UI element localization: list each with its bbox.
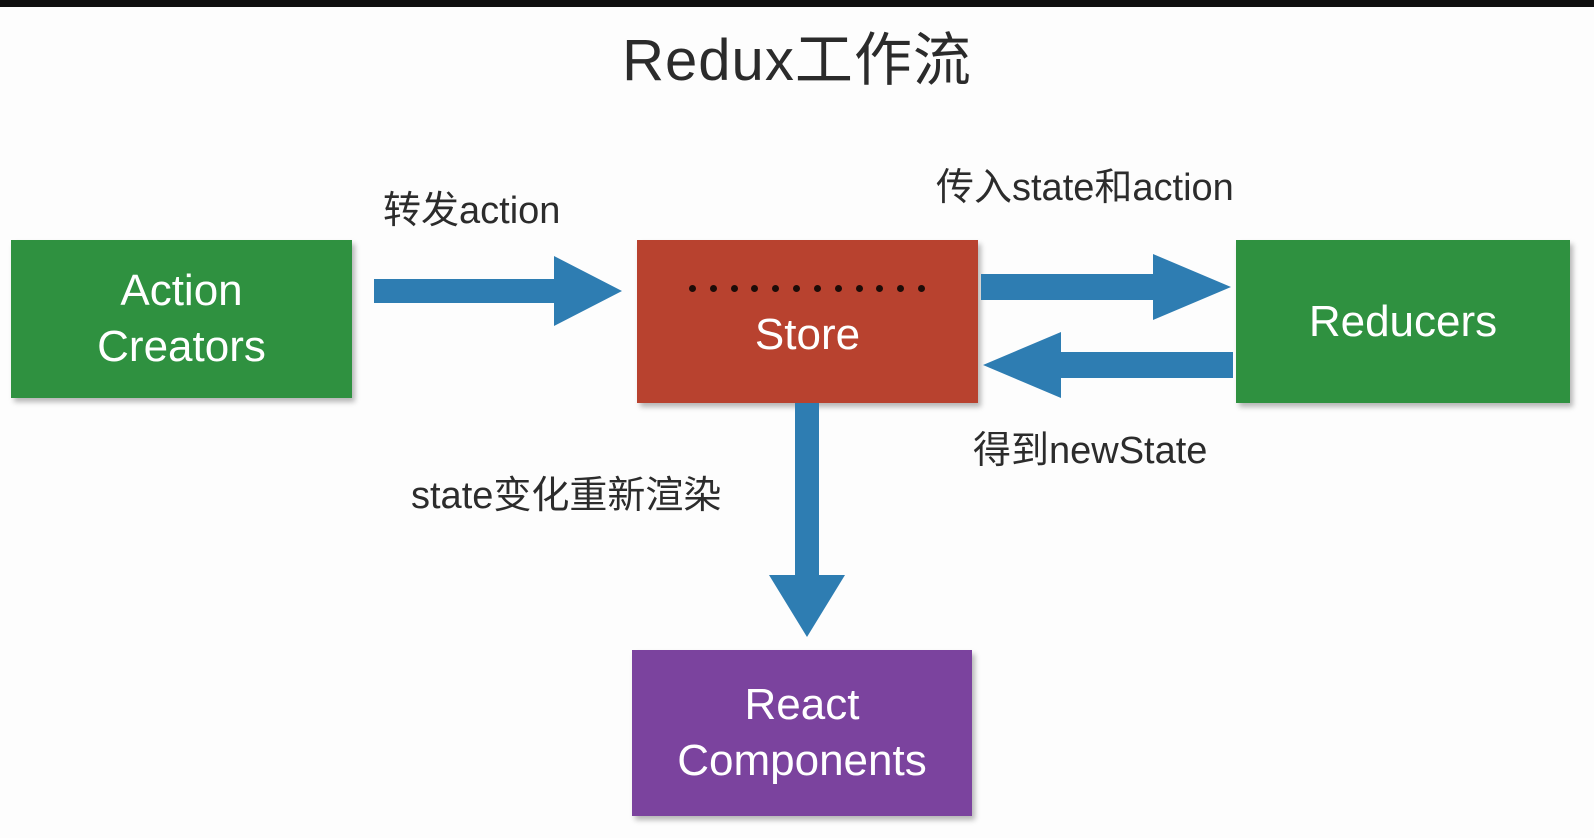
node-react-components-text: React Components	[677, 677, 926, 789]
arrow-dispatch-action-icon	[374, 252, 624, 330]
label-pass-state-and-action: 传入state和action	[936, 165, 1234, 211]
label-dispatch-action: 转发action	[383, 188, 560, 234]
store-dot	[897, 285, 904, 292]
label-state-change-rerender: state变化重新渲染	[411, 473, 721, 519]
diagram-canvas: Redux工作流 Action Creators Store Reducers …	[0, 0, 1594, 838]
store-dot	[876, 285, 883, 292]
arrow-state-change-rerender-icon	[765, 403, 849, 639]
store-dot	[731, 285, 738, 292]
store-dot	[710, 285, 717, 292]
store-dot	[814, 285, 821, 292]
node-action-creators-text: Action Creators	[97, 263, 266, 375]
node-reducers-label: Reducers	[1309, 294, 1497, 350]
store-dot	[856, 285, 863, 292]
node-store-label: Store	[755, 307, 860, 363]
page-title: Redux工作流	[0, 26, 1594, 96]
node-react-components-line1: React	[677, 677, 926, 733]
arrow-pass-state-and-action-icon	[981, 252, 1233, 322]
store-dots-decoration	[689, 282, 925, 294]
store-dot	[689, 285, 696, 292]
store-dot	[835, 285, 842, 292]
node-store[interactable]: Store	[637, 240, 978, 403]
node-react-components[interactable]: React Components	[632, 650, 972, 816]
store-dot	[918, 285, 925, 292]
store-dot	[793, 285, 800, 292]
arrow-get-new-state-icon	[981, 330, 1233, 400]
store-dot	[772, 285, 779, 292]
node-action-creators-line1: Action	[97, 263, 266, 319]
node-react-components-line2: Components	[677, 733, 926, 789]
label-get-new-state: 得到newState	[973, 428, 1207, 474]
node-reducers[interactable]: Reducers	[1236, 240, 1570, 403]
store-dot	[751, 285, 758, 292]
node-action-creators-line2: Creators	[97, 319, 266, 375]
top-black-bar	[0, 0, 1594, 7]
node-action-creators[interactable]: Action Creators	[11, 240, 352, 398]
